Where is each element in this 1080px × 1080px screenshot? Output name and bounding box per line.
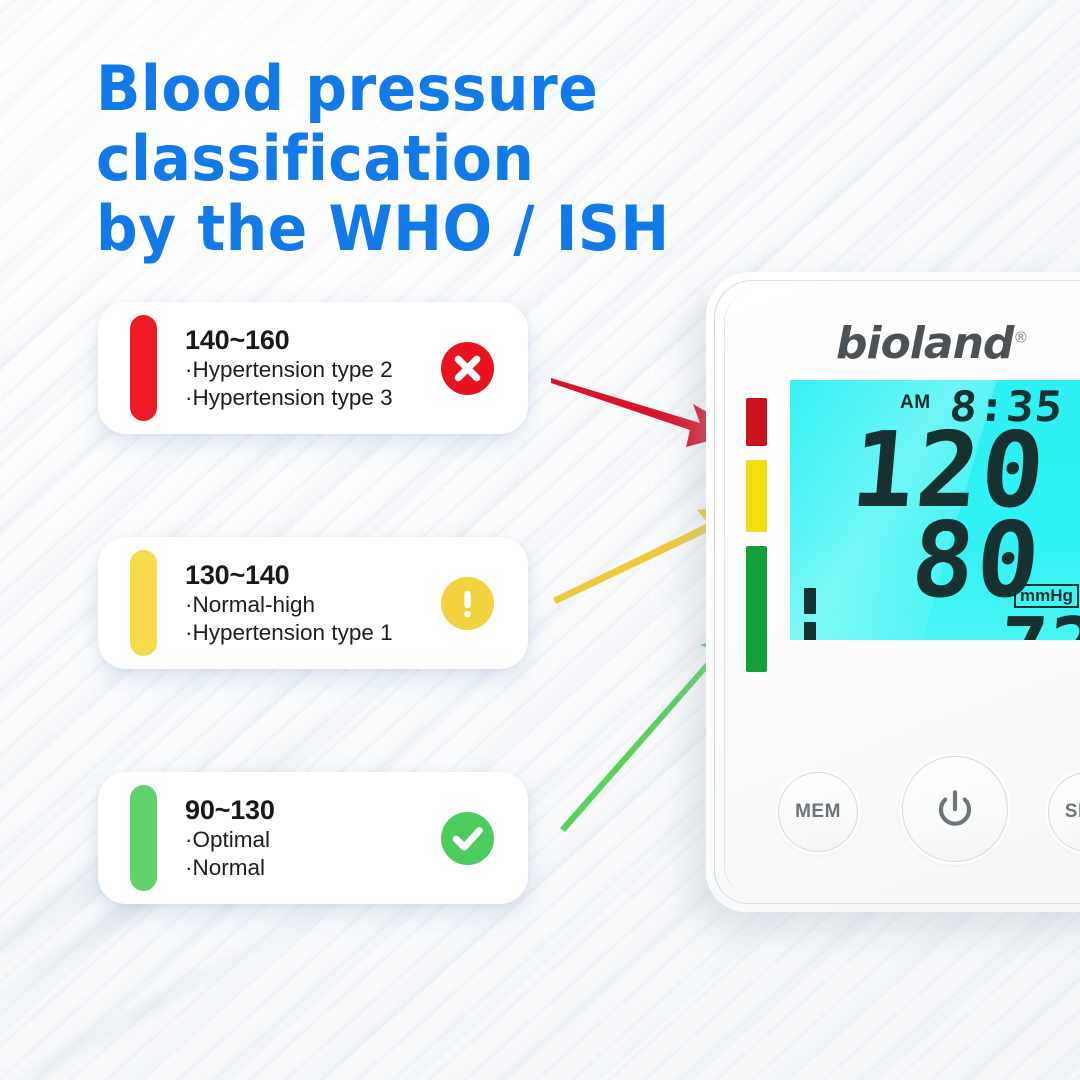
lcd-pulse-value: 72 [1001, 608, 1080, 640]
device-indicator-red [746, 398, 767, 446]
card-color-bar-yellow [130, 550, 157, 656]
card-detail-line: ·Hypertension type 2 [185, 356, 441, 384]
status-badge-danger [441, 342, 494, 395]
lcd-readout: AM 8:35 120 80 mmHg 72 1 [790, 380, 1080, 640]
mem-button-label: MEM [795, 801, 841, 823]
card-detail-line: ·Optimal [185, 826, 441, 854]
page-title: Blood pressure classification by the WHO… [96, 54, 961, 264]
registered-mark: ® [1013, 328, 1027, 346]
status-badge-caution [441, 577, 494, 630]
exclamation-icon [441, 577, 494, 630]
device-indicator-yellow [746, 460, 767, 532]
check-icon [441, 812, 494, 865]
page-title-line-1: Blood pressure classification [96, 52, 598, 195]
blood-pressure-monitor: bioland® AM 8:35 120 80 mmHg 72 [706, 272, 1080, 912]
brand-name: bioland [836, 318, 1013, 369]
card-range: 140~160 [185, 324, 441, 356]
classification-card-caution[interactable]: 130~140 ·Normal-high ·Hypertension type … [98, 537, 528, 669]
card-range: 130~140 [185, 559, 441, 591]
classification-card-ok[interactable]: 90~130 ·Optimal ·Normal [98, 772, 528, 904]
card-detail-line: ·Hypertension type 1 [185, 619, 441, 647]
power-icon [932, 786, 978, 832]
status-badge-ok [441, 812, 494, 865]
cross-icon [441, 342, 494, 395]
card-color-bar-green [130, 785, 157, 891]
infographic-canvas: Blood pressure classification by the WHO… [0, 0, 1080, 1080]
card-detail-line: ·Normal [185, 854, 441, 882]
lcd-bargraph-icon [804, 588, 816, 640]
mem-button[interactable]: MEM [778, 772, 858, 852]
classification-card-high[interactable]: 140~160 ·Hypertension type 2 ·Hypertensi… [98, 302, 528, 434]
lcd-unit-label: mmHg [1014, 584, 1079, 608]
lcd-screen: AM 8:35 120 80 mmHg 72 1 [790, 380, 1080, 640]
card-text-block: 140~160 ·Hypertension type 2 ·Hypertensi… [185, 324, 441, 412]
card-text-block: 90~130 ·Optimal ·Normal [185, 794, 441, 882]
page-title-line-2: by the WHO / ISH [96, 194, 961, 264]
card-range: 90~130 [185, 794, 441, 826]
device-indicator-green [746, 546, 767, 672]
brand-logo: bioland® [836, 318, 1080, 369]
card-text-block: 130~140 ·Normal-high ·Hypertension type … [185, 559, 441, 647]
set-button-label: SET [1065, 801, 1080, 823]
card-detail-line: ·Normal-high [185, 591, 441, 619]
power-button[interactable] [902, 756, 1008, 862]
card-detail-line: ·Hypertension type 3 [185, 384, 441, 412]
card-color-bar-red [130, 315, 157, 421]
